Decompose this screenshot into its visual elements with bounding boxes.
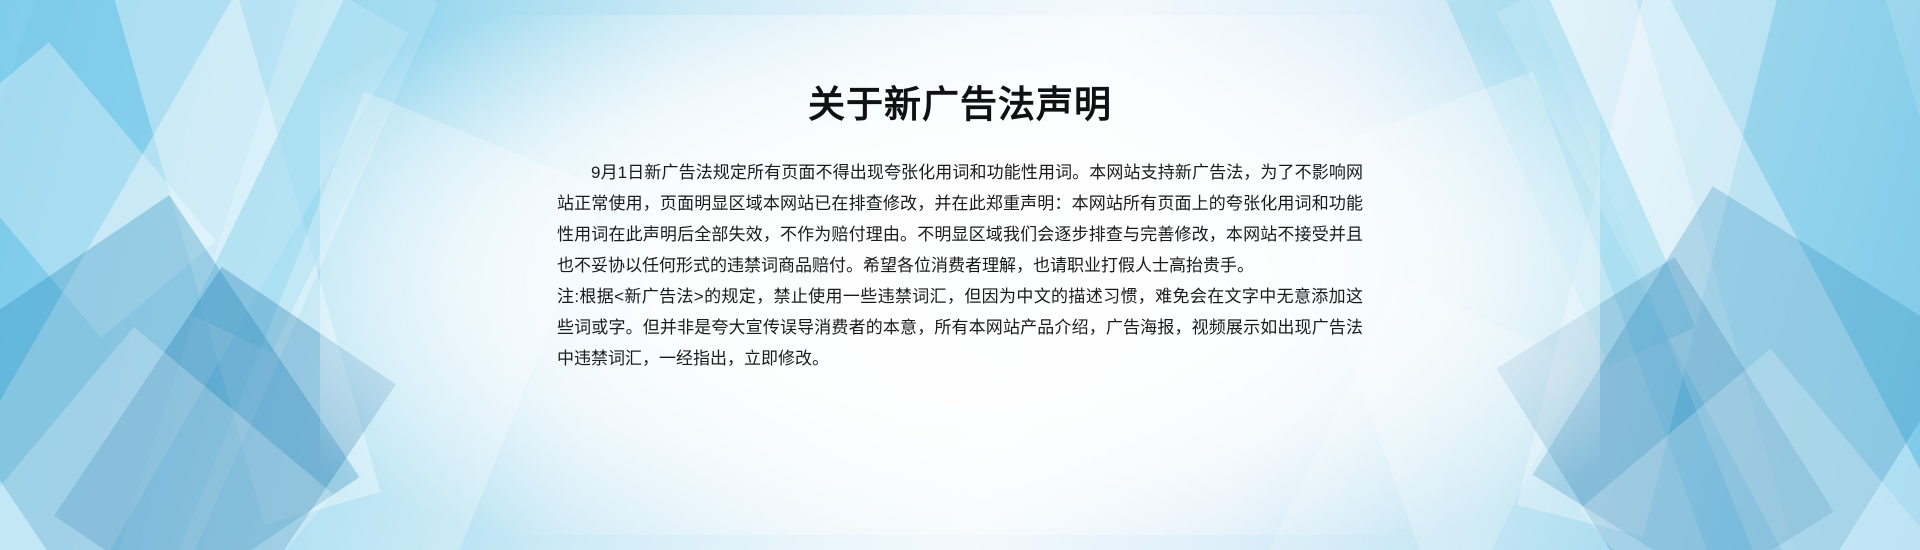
background-shard <box>0 0 343 550</box>
background-shard <box>191 0 500 353</box>
background-shard <box>1496 257 1833 550</box>
background-shard <box>1579 349 1920 550</box>
background-shard <box>0 42 216 338</box>
background-shard <box>0 0 409 550</box>
background-shard <box>54 267 396 550</box>
background-shard <box>1389 0 1695 366</box>
background-shard <box>1514 0 1920 550</box>
background-shard <box>0 327 333 550</box>
background-shard <box>0 195 359 550</box>
statement-body: 9月1日新广告法规定所有页面不得出现夸张化用词和功能性用词。本网站支持新广告法，… <box>557 157 1363 374</box>
statement-content: 关于新广告法声明 9月1日新广告法规定所有页面不得出现夸张化用词和功能性用词。本… <box>557 0 1363 374</box>
background-shard <box>100 0 381 525</box>
advertising-law-statement-banner: 关于新广告法声明 9月1日新广告法规定所有页面不得出现夸张化用词和功能性用词。本… <box>0 0 1920 550</box>
background-shard <box>1533 186 1920 550</box>
background-shard <box>0 0 438 550</box>
background-shard <box>1588 0 1920 550</box>
background-shard <box>155 92 606 550</box>
statement-paragraph-2: 注:根据<新广告法>的规定，禁止使用一些违禁词汇，但因为中文的描述习惯，难免会在… <box>557 281 1363 374</box>
page-title: 关于新广告法声明 <box>557 84 1363 127</box>
background-shard <box>1496 0 1920 550</box>
statement-paragraph-1: 9月1日新广告法规定所有页面不得出现夸张化用词和功能性用词。本网站支持新广告法，… <box>557 157 1363 281</box>
background-shard <box>1517 0 1793 537</box>
